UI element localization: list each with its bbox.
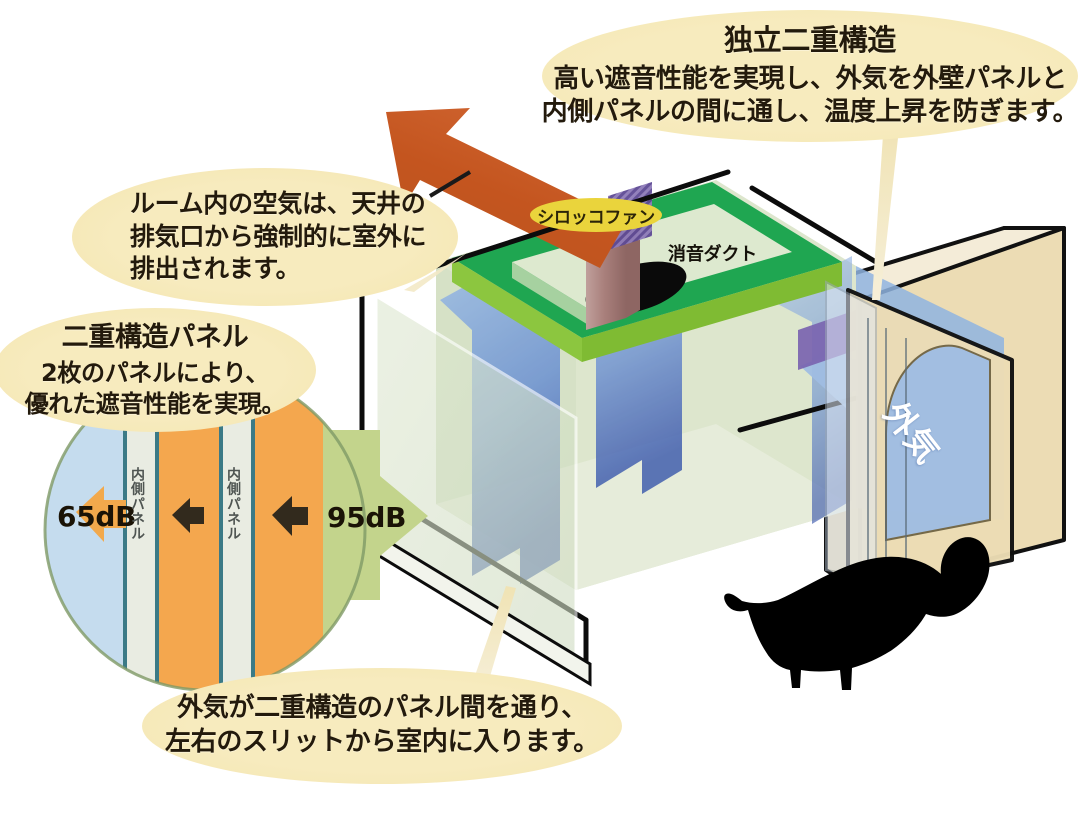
label-silencer-duct: 消音ダクト — [668, 240, 757, 266]
label-outer-db: 95dB — [327, 501, 406, 534]
callout-line: 内側パネルの間に通し、温度上昇を防ぎます。 — [542, 96, 1079, 130]
callout-double-structure: 独立二重構造 高い遮音性能を実現し、外気を外壁パネルと 内側パネルの間に通し、温… — [542, 10, 1078, 142]
label-sirocco-fan: シロッコファン — [530, 198, 662, 232]
label-inner-panel-1: 内側パネル — [130, 467, 144, 541]
callout-title: 独立二重構造 — [724, 22, 896, 60]
diagram-canvas: 独立二重構造 高い遮音性能を実現し、外気を外壁パネルと 内側パネルの間に通し、温… — [0, 0, 1080, 831]
callout-line: ルーム内の空気は、天井の — [130, 188, 425, 221]
callout-line: 2枚のパネルにより、 — [41, 358, 269, 389]
callout-line: 排気口から強制的に室外に — [130, 221, 426, 254]
callout-airflow-slit: 外気が二重構造のパネル間を通り、 左右のスリットから室内に入ります。 — [142, 668, 622, 784]
callout-double-panel: 二重構造パネル 2枚のパネルにより、 優れた遮音性能を実現。 — [0, 308, 316, 432]
callout-line: 高い遮音性能を実現し、外気を外壁パネルと — [553, 63, 1067, 97]
callout-line: 優れた遮音性能を実現。 — [25, 389, 285, 420]
callout-line: 外気が二重構造のパネル間を通り、 — [177, 692, 587, 726]
callout-exhaust: ルーム内の空気は、天井の 排気口から強制的に室外に 排出されます。 — [72, 168, 458, 306]
callout-line: 排出されます。 — [130, 253, 300, 286]
callout-line: 左右のスリットから室内に入ります。 — [165, 726, 599, 760]
label-inner-db: 65dB — [57, 500, 136, 533]
label-inner-panel-2: 内側パネル — [226, 467, 240, 541]
callout-title: 二重構造パネル — [62, 320, 249, 355]
